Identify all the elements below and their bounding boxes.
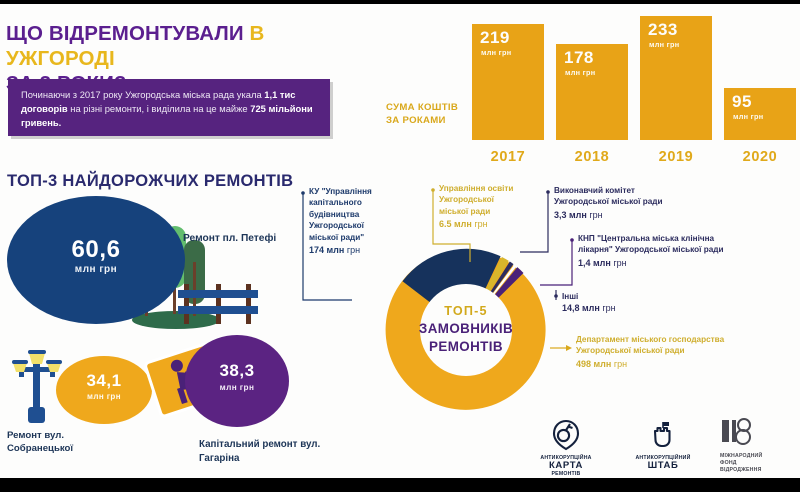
callout-ukb-value: 174 млн грн xyxy=(309,245,401,255)
callout-education-l1: Управління освіти xyxy=(439,184,513,193)
callout-hospital-text: КНП "Центральна міська клінічна лікарня"… xyxy=(578,233,796,256)
top5-donut-chart xyxy=(382,246,550,414)
callout-ukb-l2: капітального xyxy=(309,198,362,207)
callout-hospital-l1: КНП "Центральна міська клінічна xyxy=(578,234,714,243)
fortress-flag-icon xyxy=(646,418,680,452)
top3-circle-gagarina: 38,3 млн грн xyxy=(185,335,289,427)
callout-education-l3: міської ради xyxy=(439,207,490,216)
callout-dept-unit: грн xyxy=(611,359,627,369)
callout-dept-value: 498 млн грн xyxy=(576,359,792,369)
bar-unit-2019: млн грн xyxy=(649,40,679,49)
top3-caption-petefi: Ремонт пл. Петефі xyxy=(183,232,279,246)
callout-hospital: КНП "Центральна міська клінічна лікарня"… xyxy=(578,233,796,268)
bar-column-2019: 233 млн грн 2019 xyxy=(640,6,712,166)
letterbox-top xyxy=(0,0,800,4)
top3-section-title: ТОП-3 НАЙДОРОЖЧИХ РЕМОНТІВ xyxy=(7,172,293,191)
logo-ren-l3: ВІДРОДЖЕННЯ xyxy=(720,467,762,473)
callout-hospital-l2: лікарня" Ужгородської міської ради xyxy=(578,245,724,254)
logo-ren-l1: МІЖНАРОДНИЙ xyxy=(720,453,762,459)
logo-anticorruption-map: АНТИКОРУПЦІЙНА КАРТА РЕМОНТІВ xyxy=(526,418,606,478)
callout-other-num: 14,8 млн xyxy=(562,303,600,313)
callout-other-unit: грн xyxy=(600,303,616,313)
top3-circle-petefi: 60,6 млн грн xyxy=(7,196,185,324)
top3-value-sobranetska: 34,1 xyxy=(56,371,152,391)
bar-unit-2020: млн грн xyxy=(733,112,763,121)
logo-ren-l2: ФОНД xyxy=(720,460,737,466)
callout-exec-committee: Виконавчий комітет Ужгородської міської … xyxy=(554,185,764,220)
callout-other-value: 14,8 млн грн xyxy=(562,303,682,313)
bar-2017: 219 млн грн xyxy=(472,24,544,140)
callout-exec-num: 3,3 млн xyxy=(554,210,587,220)
top3-circle-sobranetska: 34,1 млн грн xyxy=(56,356,152,424)
callout-exec-l2: Ужгородської міської ради xyxy=(554,197,663,206)
callout-education: Управління освіти Ужгородської міської р… xyxy=(439,183,537,229)
callout-ukb-l4: Ужгородської xyxy=(309,221,364,230)
intro-text-1: Починаючи з 2017 року Ужгородська міська… xyxy=(21,89,264,100)
callout-hospital-unit: грн xyxy=(611,258,627,268)
callout-ukb-l1: КУ "Управління xyxy=(309,187,372,196)
callout-exec-unit: грн xyxy=(587,210,603,220)
callout-education-text: Управління освіти Ужгородської міської р… xyxy=(439,183,537,217)
top3-unit-sobranetska: млн грн xyxy=(56,392,152,401)
bar-2019: 233 млн грн xyxy=(640,16,712,140)
callout-education-l2: Ужгородської xyxy=(439,195,494,204)
callout-education-num: 6.5 млн xyxy=(439,219,472,229)
callout-other-text: Інші xyxy=(562,291,682,302)
callout-dept-l2: Ужгородської міської ради xyxy=(576,346,685,355)
headline-part-1: ЩО ВІДРЕМОНТУВАЛИ xyxy=(6,22,250,45)
bar-2018: 178 млн грн xyxy=(556,44,628,140)
logo-hq-text: АНТИКОРУПЦІЙНИЙ ШТАБ xyxy=(620,455,706,471)
bar-unit-2017: млн грн xyxy=(481,48,511,57)
callout-exec-text: Виконавчий комітет Ужгородської міської … xyxy=(554,185,764,208)
logo-renaissance-foundation: МІЖНАРОДНИЙ ФОНД ВІДРОДЖЕННЯ xyxy=(720,418,794,474)
chart-bars-area: 219 млн грн 2017 178 млн грн 2018 233 мл… xyxy=(472,6,796,166)
infographic-canvas: ЩО ВІДРЕМОНТУВАЛИ В УЖГОРОДІ ЗА 3 РОКИ? … xyxy=(0,0,800,492)
bar-year-2019: 2019 xyxy=(640,149,712,165)
callout-dept-l1: Департамент міського господарства xyxy=(576,335,724,344)
callout-ukb-text: КУ "Управління капітального будівництва … xyxy=(309,186,401,243)
letterbox-bottom xyxy=(0,478,800,492)
yearly-spend-bar-chart: СУМА КОШТІВ ЗА РОКАМИ 219 млн грн 2017 1… xyxy=(386,6,796,166)
callout-hospital-value: 1,4 млн грн xyxy=(578,258,796,268)
top3-unit-petefi: млн грн xyxy=(7,264,185,275)
callout-ukb: КУ "Управління капітального будівництва … xyxy=(309,186,401,255)
intro-callout-box: Починаючи з 2017 року Ужгородська міська… xyxy=(8,79,330,136)
logo-hq-l2: ШТАБ xyxy=(648,460,679,471)
bar-column-2018: 178 млн грн 2018 xyxy=(556,6,628,166)
callout-exec-l1: Виконавчий комітет xyxy=(554,186,635,195)
bar-unit-2018: млн грн xyxy=(565,68,595,77)
callout-ukb-num: 174 млн xyxy=(309,245,344,255)
bar-year-2017: 2017 xyxy=(472,149,544,165)
callout-other: Інші 14,8 млн грн xyxy=(562,291,682,313)
logo-renaissance-text: МІЖНАРОДНИЙ ФОНД ВІДРОДЖЕННЯ xyxy=(720,453,794,474)
logo-map-l2: КАРТА xyxy=(549,460,583,471)
top3-value-gagarina: 38,3 xyxy=(185,361,289,381)
callout-education-unit: грн xyxy=(472,219,488,229)
callout-hospital-num: 1,4 млн xyxy=(578,258,611,268)
bar-value-2018: 178 xyxy=(564,49,594,67)
callout-ukb-l3: будівництва xyxy=(309,210,359,219)
top3-caption-sobranetska: Ремонт вул. Собранецької xyxy=(7,429,127,455)
top3-caption-gagarina-text: Капітальний ремонт вул. Гагаріна xyxy=(199,439,320,464)
logo-bar: АНТИКОРУПЦІЙНА КАРТА РЕМОНТІВ АНТИКОРУПЦ… xyxy=(520,418,795,478)
callout-dept-text: Департамент міського господарства Ужгоро… xyxy=(576,334,792,357)
top3-unit-gagarina: млн грн xyxy=(185,383,289,392)
bar-year-2020: 2020 xyxy=(724,149,796,165)
logo-map-text: АНТИКОРУПЦІЙНА КАРТА РЕМОНТІВ xyxy=(526,455,606,478)
callout-exec-value: 3,3 млн грн xyxy=(554,210,764,220)
top3-value-petefi: 60,6 xyxy=(7,236,185,264)
callout-dept-num: 498 млн xyxy=(576,359,611,369)
logo-map-l3: РЕМОНТІВ xyxy=(552,471,581,477)
renaissance-icon xyxy=(720,418,756,450)
bar-column-2017: 219 млн грн 2017 xyxy=(472,6,544,166)
top3-caption-gagarina: Капітальний ремонт вул. Гагаріна xyxy=(199,438,339,465)
callout-ukb-unit: грн xyxy=(344,245,360,255)
bar-value-2017: 219 xyxy=(480,29,510,47)
map-pin-key-icon xyxy=(549,418,583,452)
bar-value-2020: 95 xyxy=(732,93,752,111)
intro-text-2: на різні ремонти, і виділила на це майже xyxy=(68,103,251,114)
logo-anticorruption-hq: АНТИКОРУПЦІЙНИЙ ШТАБ xyxy=(620,418,706,471)
bar-2020: 95 млн грн xyxy=(724,88,796,140)
chart-title: СУМА КОШТІВ ЗА РОКАМИ xyxy=(386,102,472,127)
callout-ukb-l5: міської ради" xyxy=(309,233,364,242)
callout-other-l1: Інші xyxy=(562,292,578,301)
bar-year-2018: 2018 xyxy=(556,149,628,165)
callout-education-value: 6.5 млн грн xyxy=(439,219,537,229)
bar-column-2020: 95 млн грн 2020 xyxy=(724,6,796,166)
bar-value-2019: 233 xyxy=(648,21,678,39)
intro-text: Починаючи з 2017 року Ужгородська міська… xyxy=(21,88,321,131)
callout-city-department: Департамент міського господарства Ужгоро… xyxy=(576,334,792,369)
